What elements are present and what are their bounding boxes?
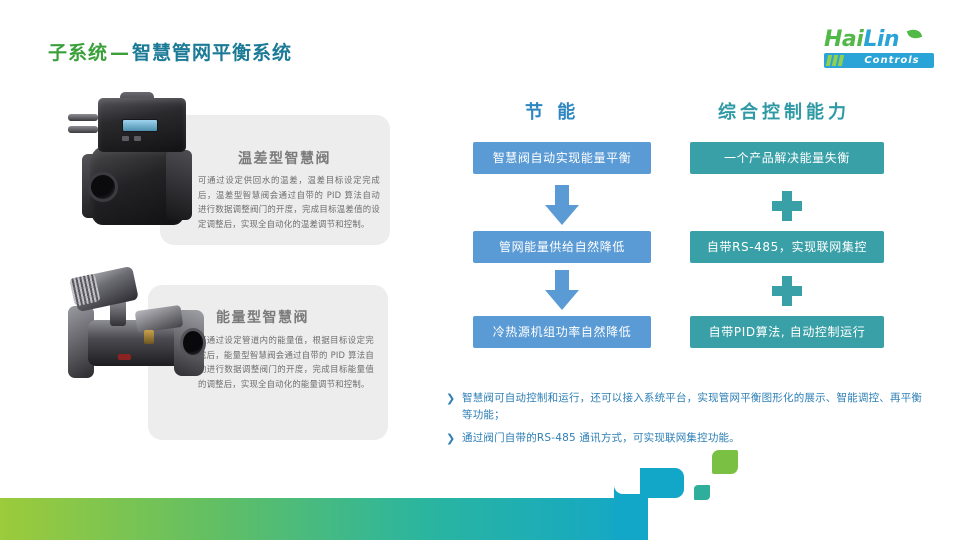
column-heading-energy-saving: 节 能 (525, 98, 579, 124)
list-item-label: 智慧阀可自动控制和运行，还可以接入系统平台，实现管网平衡图形化的展示、智能调控、… (462, 390, 926, 424)
decoration-square-green (712, 450, 738, 474)
bullet-list: ❯ 智慧阀可自动控制和运行，还可以接入系统平台，实现管网平衡图形化的展示、智能调… (446, 390, 926, 453)
page-title: 子系统—智慧管网平衡系统 (48, 38, 292, 65)
energy-smart-valve-photo (52, 258, 222, 388)
footer-notch-shape (614, 468, 640, 494)
plus-icon (772, 276, 802, 306)
product-card-title: 能量型智慧阀 (216, 307, 309, 327)
temperature-difference-smart-valve-photo (62, 92, 212, 227)
plus-icon (772, 191, 802, 221)
logo-wordmark: HaiLin (824, 28, 899, 52)
product-card-body: 可通过设定管道内的能量值，根据目标设定完成后，能量型智慧阀会通过自带的 PID … (198, 333, 374, 391)
column-heading-control-capability: 综合控制能力 (718, 98, 850, 124)
footer-tab-shape (640, 468, 684, 498)
leaf-icon (907, 27, 922, 41)
arrow-down-icon (545, 185, 579, 225)
logo-bars-icon (827, 55, 843, 66)
list-item: ❯ 智慧阀可自动控制和运行，还可以接入系统平台，实现管网平衡图形化的展示、智能调… (446, 390, 926, 424)
page-title-secondary: 智慧管网平衡系统 (132, 42, 292, 64)
product-card-title: 温差型智慧阀 (238, 148, 331, 168)
page-title-primary: 子系统 (48, 42, 108, 64)
logo-word-blue: Lin (863, 27, 899, 52)
page-title-dash: — (108, 42, 132, 64)
flow-box-right-3: 自带PID算法, 自动控制运行 (690, 316, 884, 348)
brand-logo: HaiLin Controls (816, 28, 936, 72)
logo-word-green: Hai (824, 27, 863, 52)
decoration-square-teal (694, 485, 710, 500)
flow-box-left-2: 管网能量供给自然降低 (473, 231, 651, 263)
arrow-down-icon (545, 270, 579, 310)
flow-box-left-1: 智慧阀自动实现能量平衡 (473, 142, 651, 174)
list-item-label: 通过阀门自带的RS-485 通讯方式，可实现联网集控功能。 (462, 430, 740, 447)
slide-root: 子系统—智慧管网平衡系统 HaiLin Controls 温差型智慧阀 可通过设… (0, 0, 960, 540)
chevron-right-icon: ❯ (446, 430, 462, 447)
valve-lcd-display (122, 119, 158, 132)
logo-banner-text: Controls (850, 53, 934, 68)
chevron-right-icon: ❯ (446, 390, 462, 407)
footer-gradient-band (0, 498, 648, 540)
list-item: ❯ 通过阀门自带的RS-485 通讯方式，可实现联网集控功能。 (446, 430, 926, 447)
product-card-body: 可通过设定供回水的温差，温差目标设定完成后，温差型智慧阀会通过自带的 PID 算… (198, 173, 380, 231)
flow-box-right-1: 一个产品解决能量失衡 (690, 142, 884, 174)
flow-box-right-2: 自带RS-485，实现联网集控 (690, 231, 884, 263)
flow-box-left-3: 冷热源机组功率自然降低 (473, 316, 651, 348)
